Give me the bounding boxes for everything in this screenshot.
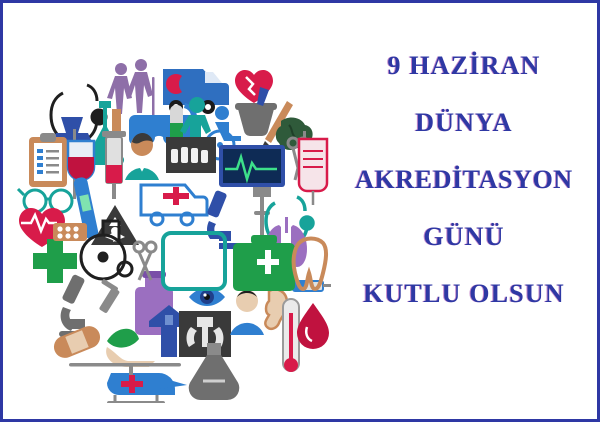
clipboard-icon [29,133,67,187]
green-cross-icon [33,239,77,283]
blood-bag-icon [299,131,327,205]
headline-line-5: KUTLU OLSUN [363,281,565,307]
pill-blister-pack-icon [53,223,87,241]
mercury-thermometer-icon [283,299,299,372]
headline-line-2: DÜNYA [415,110,513,136]
heart-icon [235,70,273,103]
small-syringe-gray-icon [99,279,120,314]
headline-line-4: GÜNÜ [423,224,504,250]
pelvis-xray-icon [179,311,231,357]
dental-xray-icon [166,137,216,173]
medical-icon-collage [11,25,331,403]
headline-text-block: 9 HAZİRAN DÜNYA AKREDİTASYON GÜNÜ KUTLU … [333,41,595,341]
syringe-icon [102,131,126,199]
blood-drop-icon [297,303,329,349]
eyeglasses-icon [18,189,72,212]
headline-line-3: AKREDİTASYON [355,167,573,193]
greeting-card: 9 HAZİRAN DÜNYA AKREDİTASYON GÜNÜ KUTLU … [0,0,600,422]
ecg-monitor-icon [219,145,285,187]
medical-helicopter-icon [69,363,187,403]
tablet-device-icon [163,233,225,289]
headline-line-1: 9 HAZİRAN [387,53,540,79]
first-aid-kit-icon [233,235,295,291]
ambulance-side-icon [141,185,207,225]
